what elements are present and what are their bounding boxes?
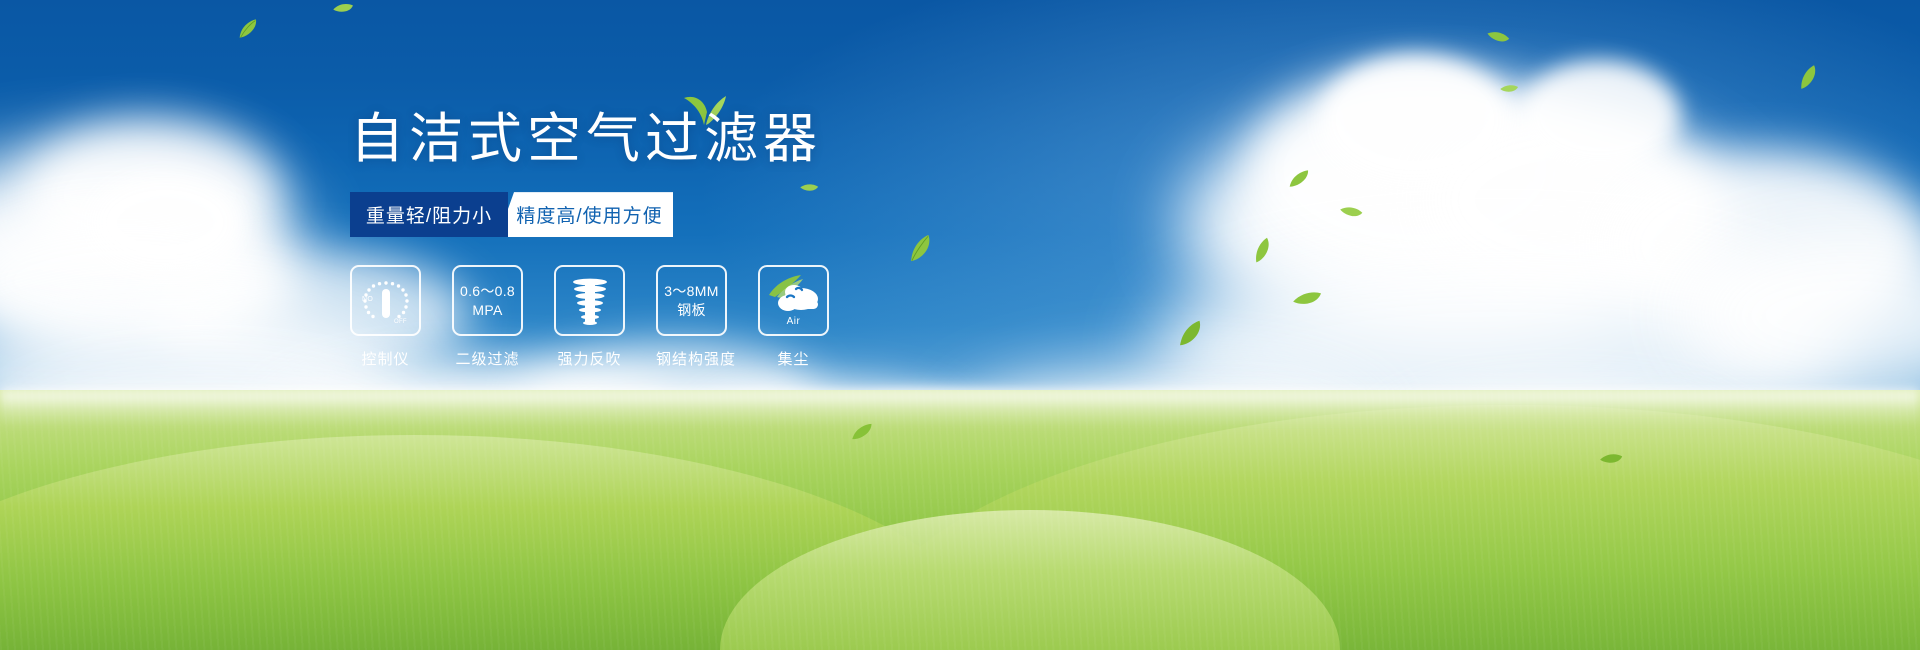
feature-item-dust[interactable]: Air 集尘 bbox=[758, 265, 829, 369]
feature-tile-control: NO OFF bbox=[350, 265, 421, 336]
page-title: 自洁式空气过滤器 bbox=[350, 108, 1110, 170]
feature-item-backblow[interactable]: 强力反吹 bbox=[554, 265, 625, 369]
cloud-left-4 bbox=[90, 175, 240, 270]
cloud-right-5 bbox=[1520, 60, 1680, 170]
feature-tile-filter: 0.6～0.8 MPA bbox=[452, 265, 523, 336]
air-label: Air bbox=[760, 316, 827, 327]
feature-tile-backblow bbox=[554, 265, 625, 336]
cloud-right-4 bbox=[1320, 55, 1510, 185]
feature-label-dust: 集尘 bbox=[758, 348, 829, 369]
feature-item-steel[interactable]: 3～8MM 钢板 钢结构强度 bbox=[656, 265, 727, 369]
grass-field bbox=[0, 390, 1920, 650]
svg-text:OFF: OFF bbox=[394, 319, 407, 325]
control-dial-icon: NO OFF bbox=[358, 275, 414, 327]
feature-tile-steel: 3～8MM 钢板 bbox=[656, 265, 727, 336]
badge-precision-convenience[interactable]: 精度高/使用方便 bbox=[498, 192, 673, 237]
banner-content: 自洁式空气过滤器 重量轻/阻力小 精度高/使用方便 bbox=[350, 108, 1110, 369]
feature-row: NO OFF 控制仪 0.6～0.8 MPA 二级过滤 bbox=[350, 265, 1110, 369]
feature-tile-dust: Air bbox=[758, 265, 829, 336]
grass-texture bbox=[0, 390, 1920, 650]
pressure-text-icon: 0.6～0.8 MPA bbox=[460, 282, 515, 318]
feature-item-filter[interactable]: 0.6～0.8 MPA 二级过滤 bbox=[452, 265, 523, 369]
feature-label-control: 控制仪 bbox=[350, 348, 421, 369]
feature-label-filter: 二级过滤 bbox=[452, 348, 523, 369]
grass-top-glow bbox=[0, 390, 1920, 428]
feature-item-control[interactable]: NO OFF 控制仪 bbox=[350, 265, 421, 369]
feature-label-steel: 钢结构强度 bbox=[656, 348, 727, 369]
svg-text:NO: NO bbox=[362, 296, 373, 303]
badge-weight-resistance[interactable]: 重量轻/阻力小 bbox=[350, 192, 508, 237]
feature-label-backblow: 强力反吹 bbox=[554, 348, 625, 369]
badge-row: 重量轻/阻力小 精度高/使用方便 bbox=[350, 192, 673, 237]
back-blow-filter-icon bbox=[566, 275, 614, 327]
hero-banner: 自洁式空气过滤器 重量轻/阻力小 精度高/使用方便 bbox=[0, 0, 1920, 650]
steel-plate-text-icon: 3～8MM 钢板 bbox=[664, 282, 718, 318]
